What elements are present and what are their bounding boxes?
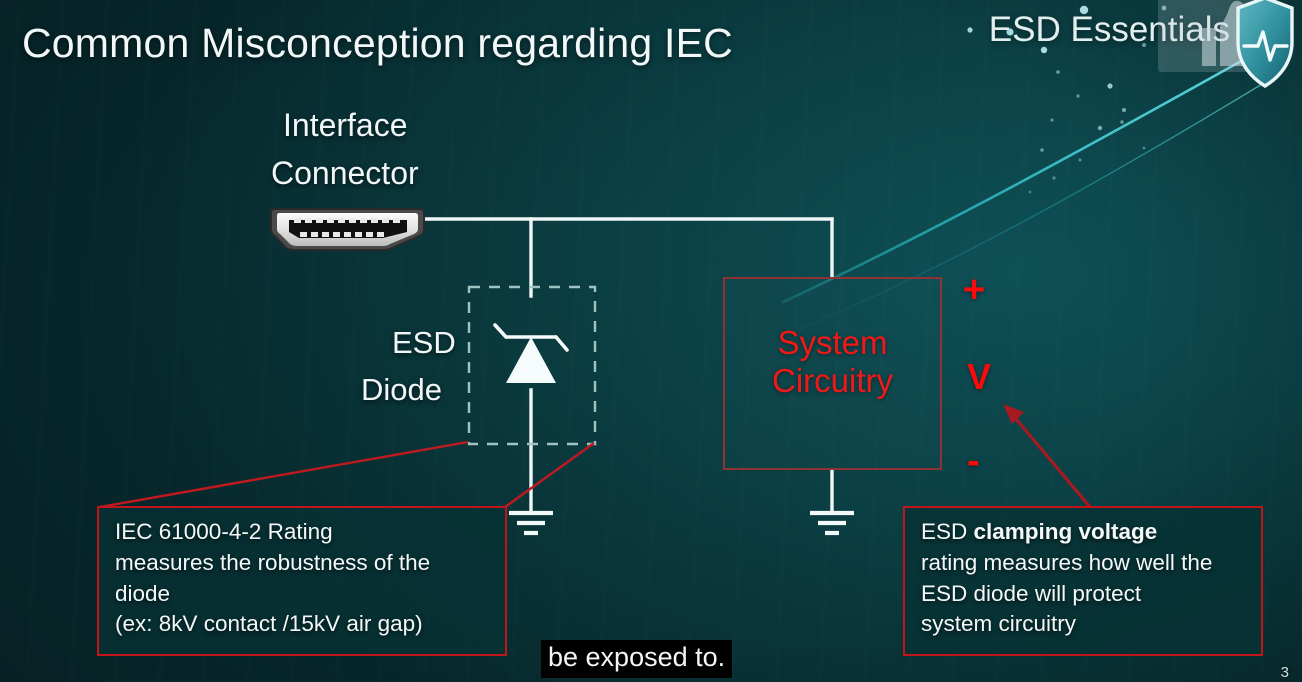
voltage-v-marker: V xyxy=(967,356,991,398)
system-circuitry-box: System Circuitry xyxy=(723,277,942,470)
right-callout-line2: rating measures how well the xyxy=(921,548,1248,579)
voltage-plus-marker: + xyxy=(963,269,985,312)
right-callout-line1-bold: clamping voltage xyxy=(974,519,1158,544)
left-callout-line2: measures the robustness of the xyxy=(115,548,492,579)
left-callout-line4: (ex: 8kV contact /15kV air gap) xyxy=(115,609,492,640)
right-callout-line3: ESD diode will protect xyxy=(921,579,1248,610)
left-callout-box: IEC 61000-4-2 Rating measures the robust… xyxy=(97,506,507,656)
system-circuitry-line1: System xyxy=(725,324,940,362)
zener-tvs-diode-icon xyxy=(495,325,567,383)
right-callout-line4: system circuitry xyxy=(921,609,1248,640)
ground-symbol-icon-left xyxy=(509,513,553,533)
system-circuitry-line2: Circuitry xyxy=(725,362,940,400)
presentation-slide: Common Misconception regarding IEC ESD E… xyxy=(0,0,1302,682)
hdmi-connector-icon xyxy=(267,203,427,260)
voltage-minus-marker: - xyxy=(967,440,980,483)
left-callout-line3: diode xyxy=(115,579,492,610)
right-callout-box: ESD clamping voltage rating measures how… xyxy=(903,506,1263,656)
left-callout-leader xyxy=(100,442,594,507)
right-callout-line1: ESD clamping voltage xyxy=(921,517,1248,548)
slide-number: 3 xyxy=(1281,664,1289,681)
left-callout-line1: IEC 61000-4-2 Rating xyxy=(115,517,492,548)
ground-symbol-icon-right xyxy=(810,513,854,533)
right-callout-arrow xyxy=(1003,404,1090,507)
video-caption: be exposed to. xyxy=(541,640,732,678)
right-callout-line1-prefix: ESD xyxy=(921,519,974,544)
